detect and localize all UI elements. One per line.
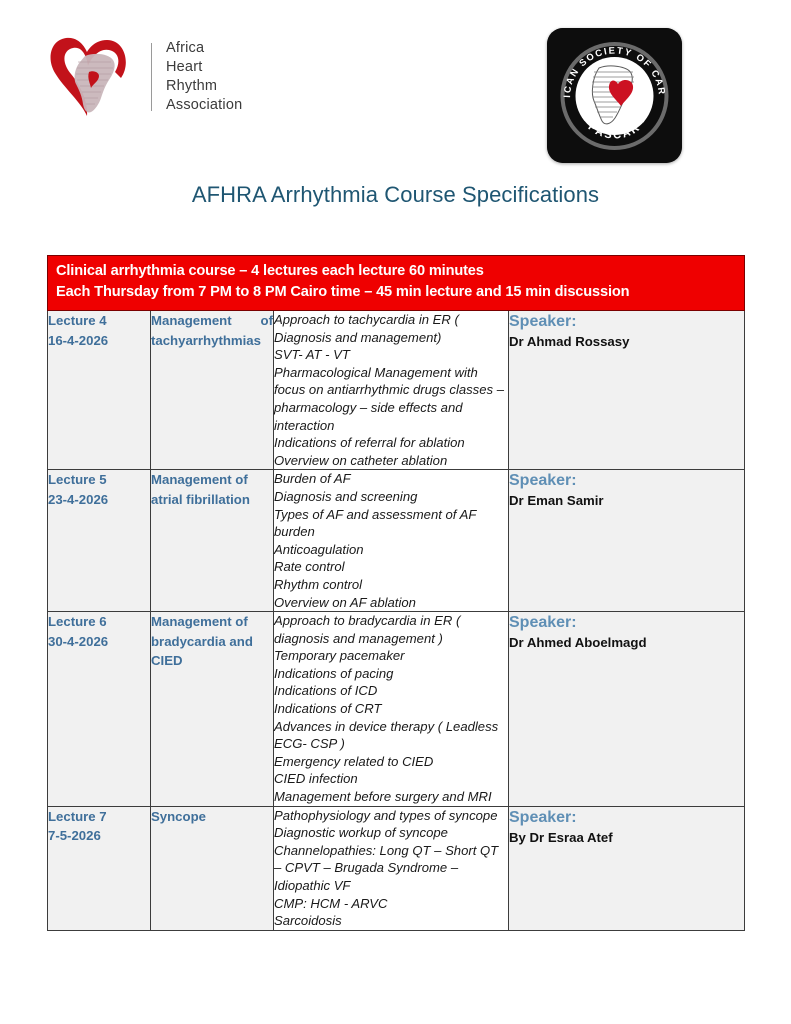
topic-cell: Management of atrial fibrillation — [151, 470, 274, 612]
lecture-cell: Lecture 6 30-4-2026 — [48, 612, 151, 807]
content-cell: Burden of AF Diagnosis and screening Typ… — [274, 470, 509, 612]
afhra-word-4: Association — [166, 96, 242, 115]
topic-label: Management of atrial fibrillation — [151, 470, 273, 509]
course-banner: Clinical arrhythmia course – 4 lectures … — [48, 256, 745, 311]
content-item: Advances in device therapy ( Leadless EC… — [274, 718, 508, 753]
afhra-logo: Africa Heart Rhythm Association — [47, 28, 242, 126]
content-item: Rhythm control — [274, 576, 508, 594]
topic-cell: Management of tachyarrhythmias — [151, 311, 274, 470]
speaker-name: By Dr Esraa Atef — [509, 829, 744, 847]
content-item: Anticoagulation — [274, 541, 508, 559]
content-list: Approach to bradycardia in ER ( diagnosi… — [274, 612, 508, 806]
content-item: Overview on AF ablation — [274, 594, 508, 612]
content-item: Approach to bradycardia in ER ( diagnosi… — [274, 612, 508, 647]
content-item: Overview on catheter ablation — [274, 452, 508, 470]
topic-cell: Syncope — [151, 806, 274, 930]
table-row: Lecture 5 23-4-2026 Management of atrial… — [48, 470, 745, 612]
table-row: Lecture 6 30-4-2026 Management of bradyc… — [48, 612, 745, 807]
topic-label: Management of bradycardia and CIED — [151, 612, 273, 671]
speaker-label: Speaker: — [509, 807, 744, 828]
content-item: SVT- AT - VT — [274, 346, 508, 364]
lecture-date: 30-4-2026 — [48, 632, 150, 652]
content-cell: Approach to bradycardia in ER ( diagnosi… — [274, 612, 509, 807]
content-item: Management before surgery and MRI — [274, 788, 508, 806]
lecture-date: 23-4-2026 — [48, 490, 150, 510]
content-item: Indications of CRT — [274, 700, 508, 718]
table-row: Lecture 7 7-5-2026 Syncope Pathophysiolo… — [48, 806, 745, 930]
content-item: Pharmacological Management with focus on… — [274, 364, 508, 434]
topic-cell: Management of bradycardia and CIED — [151, 612, 274, 807]
content-item: Sarcoidosis — [274, 912, 508, 930]
document-page: Africa Heart Rhythm Association — [0, 0, 791, 1024]
lecture-number: Lecture 5 — [48, 470, 150, 490]
page-title: AFHRA Arrhythmia Course Specifications — [0, 182, 791, 208]
content-item: Approach to tachycardia in ER ( Diagnosi… — [274, 311, 508, 346]
content-item: Channelopathies: Long QT – Short QT – CP… — [274, 842, 508, 895]
banner-line-2: Each Thursday from 7 PM to 8 PM Cairo ti… — [56, 282, 736, 303]
banner-line-1: Clinical arrhythmia course – 4 lectures … — [56, 261, 736, 282]
content-cell: Pathophysiology and types of syncope Dia… — [274, 806, 509, 930]
lecture-date: 7-5-2026 — [48, 826, 150, 846]
speaker-label: Speaker: — [509, 612, 744, 633]
content-item: Diagnostic workup of syncope — [274, 824, 508, 842]
course-schedule-table: Clinical arrhythmia course – 4 lectures … — [47, 255, 744, 931]
afhra-heart-africa-icon — [47, 28, 145, 126]
lecture-number: Lecture 6 — [48, 612, 150, 632]
speaker-name: Dr Ahmed Aboelmagd — [509, 634, 744, 652]
logo-divider — [151, 43, 152, 111]
logo-header: Africa Heart Rhythm Association — [0, 0, 791, 175]
table-banner-row: Clinical arrhythmia course – 4 lectures … — [48, 256, 745, 311]
speaker-label: Speaker: — [509, 470, 744, 491]
content-item: Emergency related to CIED — [274, 753, 508, 771]
lecture-number: Lecture 7 — [48, 807, 150, 827]
afhra-wordmark: Africa Heart Rhythm Association — [166, 39, 242, 115]
content-item: Indications of pacing — [274, 665, 508, 683]
content-item: CMP: HCM - ARVC — [274, 895, 508, 913]
content-item: Pathophysiology and types of syncope — [274, 807, 508, 825]
content-cell: Approach to tachycardia in ER ( Diagnosi… — [274, 311, 509, 470]
speaker-cell: Speaker: By Dr Esraa Atef — [509, 806, 745, 930]
table-row: Lecture 4 16-4-2026 Management of tachya… — [48, 311, 745, 470]
content-item: Types of AF and assessment of AF burden — [274, 506, 508, 541]
pascar-logo: PAN-AFRICAN SOCIETY OF CARDIOLOGY – PASC… — [547, 28, 682, 163]
speaker-name: Dr Eman Samir — [509, 492, 744, 510]
content-item: Diagnosis and screening — [274, 488, 508, 506]
lecture-number: Lecture 4 — [48, 311, 150, 331]
content-list: Approach to tachycardia in ER ( Diagnosi… — [274, 311, 508, 469]
speaker-cell: Speaker: Dr Eman Samir — [509, 470, 745, 612]
lecture-date: 16-4-2026 — [48, 331, 150, 351]
lecture-cell: Lecture 4 16-4-2026 — [48, 311, 151, 470]
content-item: Indications of referral for ablation — [274, 434, 508, 452]
content-item: Temporary pacemaker — [274, 647, 508, 665]
content-item: Burden of AF — [274, 470, 508, 488]
afhra-word-2: Heart — [166, 58, 242, 77]
afhra-word-3: Rhythm — [166, 77, 242, 96]
topic-label: Management of tachyarrhythmias — [151, 311, 273, 350]
speaker-name: Dr Ahmad Rossasy — [509, 333, 744, 351]
content-item: CIED infection — [274, 770, 508, 788]
content-list: Pathophysiology and types of syncope Dia… — [274, 807, 508, 930]
content-item: Indications of ICD — [274, 682, 508, 700]
topic-label: Syncope — [151, 807, 273, 827]
lecture-cell: Lecture 7 7-5-2026 — [48, 806, 151, 930]
afhra-word-1: Africa — [166, 39, 242, 58]
lecture-cell: Lecture 5 23-4-2026 — [48, 470, 151, 612]
speaker-cell: Speaker: Dr Ahmed Aboelmagd — [509, 612, 745, 807]
content-list: Burden of AF Diagnosis and screening Typ… — [274, 470, 508, 611]
speaker-label: Speaker: — [509, 311, 744, 332]
content-item: Rate control — [274, 558, 508, 576]
speaker-cell: Speaker: Dr Ahmad Rossasy — [509, 311, 745, 470]
